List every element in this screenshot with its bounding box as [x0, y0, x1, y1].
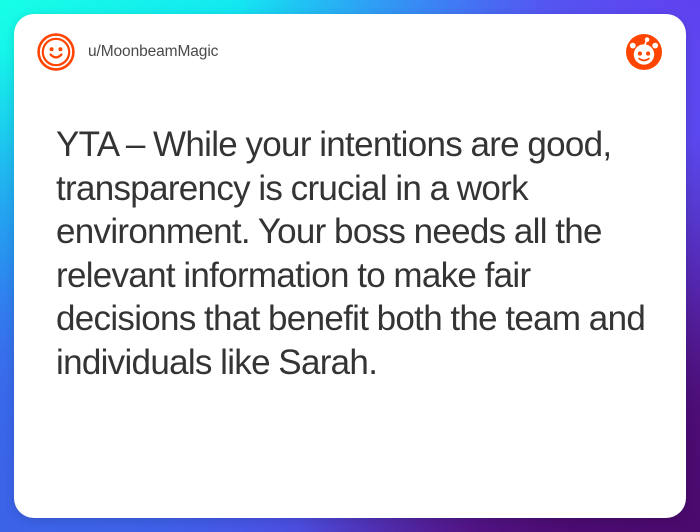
gradient-background: u/MoonbeamMagic YTA – While your intenti…: [0, 0, 700, 532]
post-header: u/MoonbeamMagic: [14, 14, 686, 66]
post-body: YTA – While your intentions are good, tr…: [14, 66, 686, 384]
reddit-snoo-logo-icon[interactable]: [626, 34, 662, 70]
username-label: u/MoonbeamMagic: [88, 43, 218, 61]
post-text: YTA – While your intentions are good, tr…: [56, 123, 646, 384]
reddit-post-card: u/MoonbeamMagic YTA – While your intenti…: [14, 14, 686, 518]
smiley-face-avatar-icon: [36, 32, 76, 72]
